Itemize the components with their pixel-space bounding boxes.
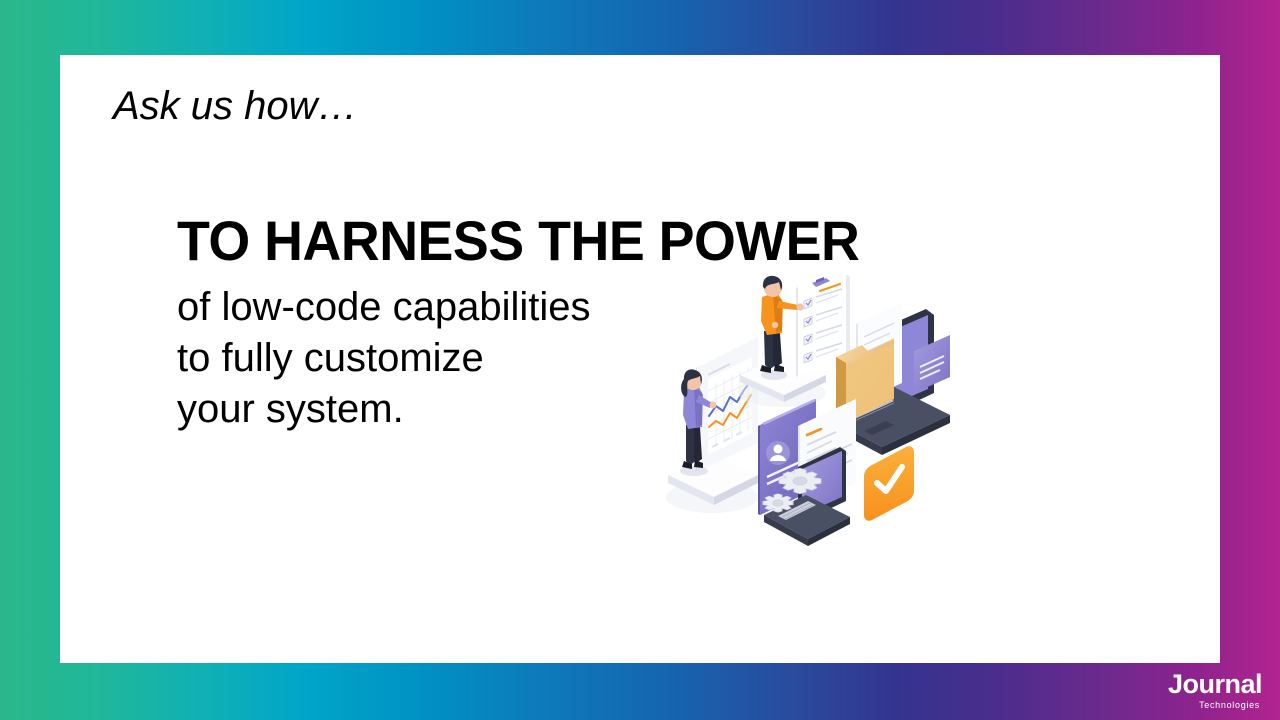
subcopy-block: of low-code capabilities to fully custom… — [177, 282, 591, 435]
subcopy-line-3: your system. — [177, 384, 591, 435]
page-title: TO HARNESS THE POWER — [177, 213, 859, 269]
logo-tagline: Technologies — [1168, 701, 1260, 710]
check-badge-icon — [864, 446, 914, 521]
eyebrow-text: Ask us how… — [113, 86, 358, 126]
subcopy-line-2: to fully customize — [177, 333, 591, 384]
logo-wordmark: Journal — [1168, 671, 1262, 698]
brand-logo: Journal Technologies — [1168, 671, 1262, 710]
subcopy-line-1: of low-code capabilities — [177, 282, 591, 333]
isometric-illustration — [650, 275, 970, 555]
slide-canvas: Ask us how… TO HARNESS THE POWER of low-… — [0, 0, 1280, 720]
